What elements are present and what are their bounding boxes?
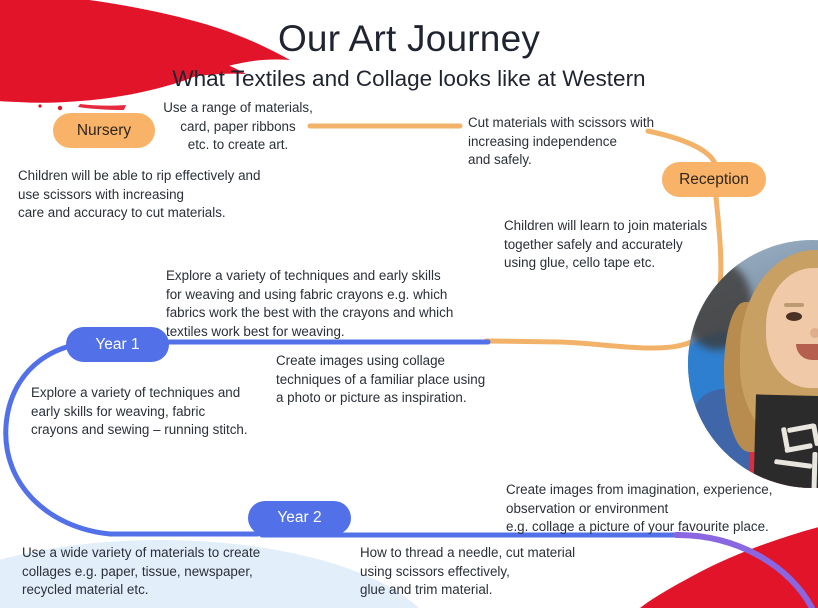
photo-black-card xyxy=(752,394,818,488)
note-year1-weaving: Explore a variety of techniques and earl… xyxy=(166,267,496,341)
note-reception-cutting: Cut materials with scissors with increas… xyxy=(468,114,728,170)
note-nursery-materials: Use a range of materials, card, paper ri… xyxy=(158,99,318,155)
stage-pill-year1[interactable]: Year 1 xyxy=(66,327,169,362)
photo-child-eyebrow-left xyxy=(784,303,804,307)
path-year2-purple-continuation xyxy=(676,535,812,608)
collage-stick-arm-left xyxy=(774,459,812,469)
art-journey-poster: Our Art Journey What Textiles and Collag… xyxy=(0,0,818,608)
note-year2-needle: How to thread a needle, cut material usi… xyxy=(360,544,620,600)
collage-stick-head-right xyxy=(811,424,818,447)
stage-pill-nursery[interactable]: Nursery xyxy=(53,113,155,148)
page-subtitle: What Textiles and Collage looks like at … xyxy=(0,66,818,92)
note-reception-joining: Children will learn to join materials to… xyxy=(504,217,764,273)
page-title: Our Art Journey xyxy=(0,18,818,60)
note-nursery-ripping: Children will be able to rip effectively… xyxy=(18,167,318,223)
note-year1-collage: Create images using collage techniques o… xyxy=(276,352,516,408)
note-year2-materials: Use a wide variety of materials to creat… xyxy=(22,544,322,600)
note-year1-sewing: Explore a variety of techniques and earl… xyxy=(31,384,311,440)
photo-child-eye-left xyxy=(786,312,802,321)
collage-stick-body xyxy=(811,452,817,488)
photo-child-nose xyxy=(810,328,818,338)
note-year2-imagination: Create images from imagination, experien… xyxy=(506,481,806,537)
stage-pill-year2[interactable]: Year 2 xyxy=(248,501,351,535)
student-photo xyxy=(688,240,818,488)
